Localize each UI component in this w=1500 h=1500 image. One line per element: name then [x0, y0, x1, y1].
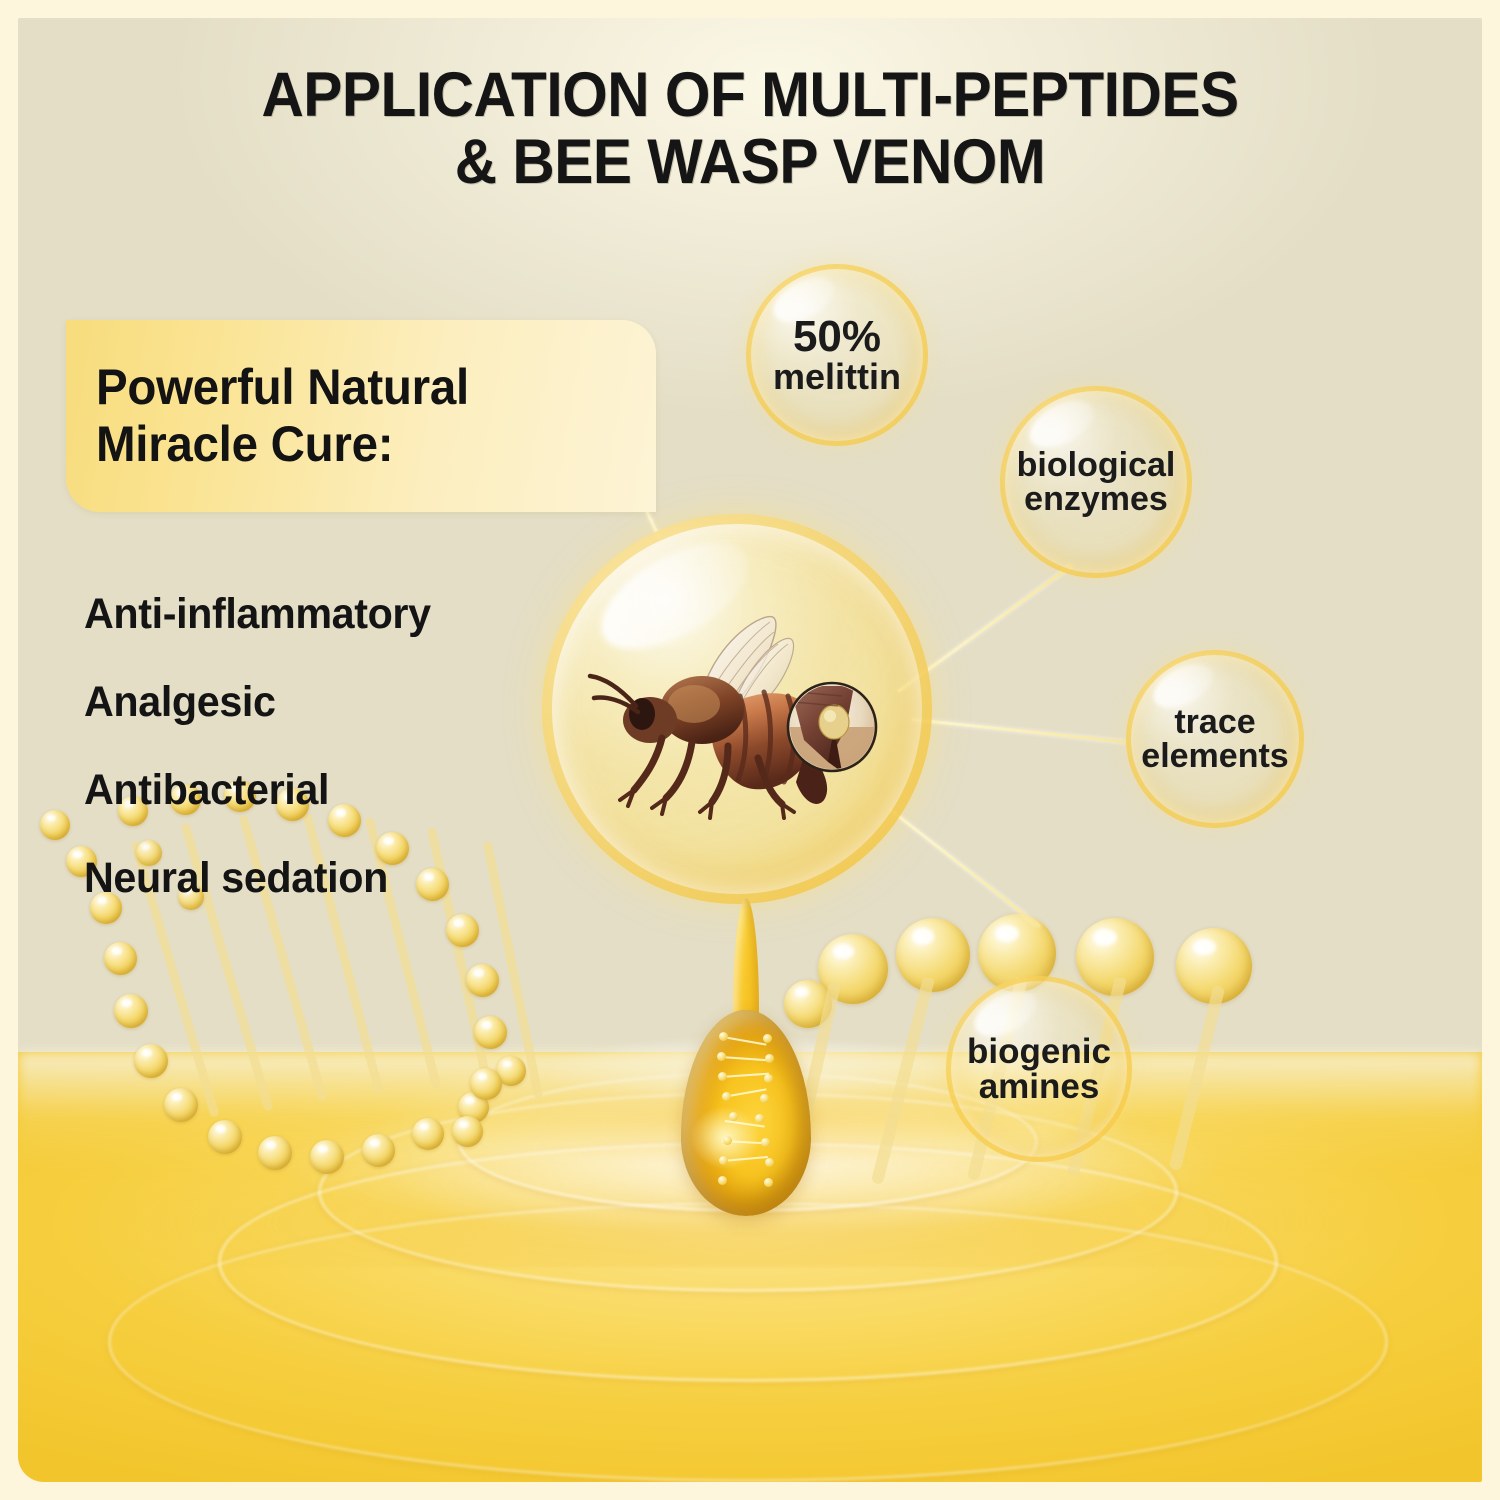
bubble-melittin[interactable]: 50% melittin — [746, 264, 928, 446]
callout-banner: Powerful Natural Miracle Cure: — [66, 320, 656, 512]
bubble-enzymes-label: biological enzymes — [1011, 448, 1182, 516]
bubble-amines-line1: biogenic — [967, 1034, 1111, 1069]
bubble-trace-line1: trace — [1141, 705, 1288, 739]
bubble-trace-line2: elements — [1141, 739, 1288, 773]
bubble-biogenic-amines[interactable]: biogenic amines — [946, 976, 1132, 1162]
bubble-biological-enzymes[interactable]: biological enzymes — [1000, 386, 1192, 578]
bubble-amines-label: biogenic amines — [961, 1034, 1117, 1104]
benefit-item-anti-inflammatory: Anti-inflammatory — [84, 590, 583, 639]
benefit-item-analgesic: Analgesic — [84, 678, 583, 727]
callout-line-1: Powerful Natural — [96, 359, 469, 416]
central-bee-bubble[interactable] — [542, 514, 932, 904]
page-title: APPLICATION OF MULTI-PEPTIDES & BEE WASP… — [69, 62, 1431, 196]
benefit-item-neural-sedation: Neural sedation — [84, 854, 583, 903]
bubble-amines-line2: amines — [967, 1069, 1111, 1104]
bubble-melittin-line1: 50% — [773, 315, 901, 359]
page-title-line-2: & BEE WASP VENOM — [69, 129, 1431, 196]
bubble-melittin-line2: melittin — [773, 359, 901, 395]
page-title-line-1: APPLICATION OF MULTI-PEPTIDES — [261, 60, 1238, 130]
callout-text: Powerful Natural Miracle Cure: — [96, 359, 469, 473]
bubble-melittin-label: 50% melittin — [767, 315, 907, 395]
bubble-enzymes-line2: enzymes — [1017, 482, 1176, 516]
bubble-trace-label: trace elements — [1135, 705, 1294, 773]
poster-canvas: 50% melittin biological enzymes trace el… — [18, 18, 1482, 1482]
honey-droplet-with-dna — [681, 898, 811, 1243]
poster-root: 50% melittin biological enzymes trace el… — [0, 0, 1500, 1500]
honey-bee-icon — [542, 514, 932, 904]
bubble-enzymes-line1: biological — [1017, 448, 1176, 482]
droplet-dna-helix — [717, 1028, 775, 1198]
bubble-trace-elements[interactable]: trace elements — [1126, 650, 1304, 828]
benefits-list: Anti-inflammatory Analgesic Antibacteria… — [84, 590, 604, 942]
benefit-item-antibacterial: Antibacterial — [84, 766, 583, 815]
callout-line-2: Miracle Cure: — [96, 416, 469, 473]
